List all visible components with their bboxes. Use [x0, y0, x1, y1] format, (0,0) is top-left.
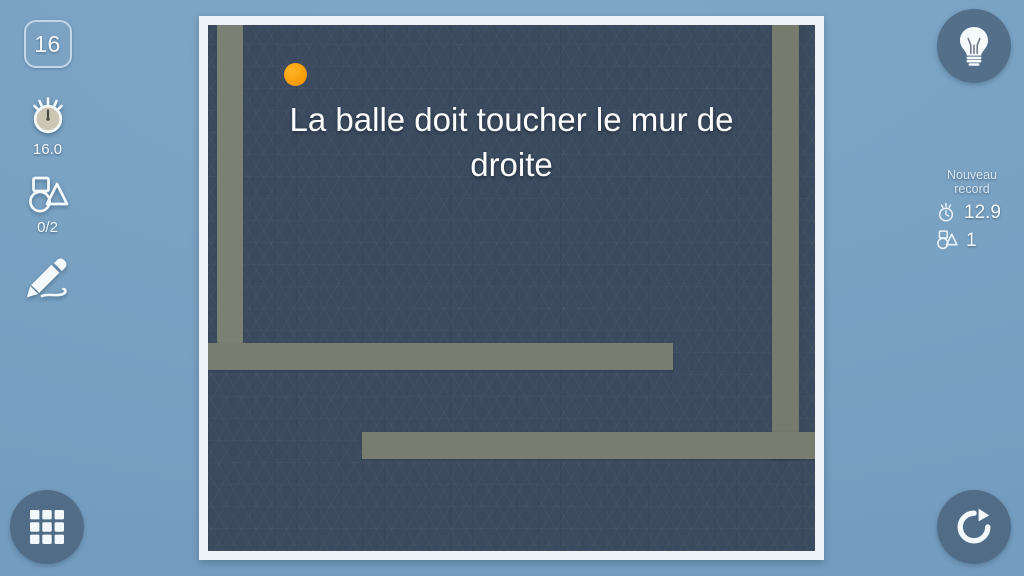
new-record-panel: Nouveau record 12.9 1	[932, 168, 1012, 251]
pencil-draw-icon	[22, 256, 74, 302]
draw-tool-button[interactable]	[22, 256, 74, 302]
restart-icon	[954, 507, 994, 547]
play-field[interactable]: La balle doit toucher le mur de droite	[208, 25, 815, 551]
objective-text: La balle doit toucher le mur de droite	[252, 97, 772, 187]
restart-button[interactable]	[937, 490, 1011, 564]
timer-value: 16.0	[33, 141, 62, 158]
record-shapes-value: 1	[966, 231, 977, 250]
wall-middle	[208, 343, 673, 370]
new-record-title: Nouveau record	[947, 168, 997, 196]
record-time-value: 12.9	[964, 203, 1001, 222]
timer-stat: 16.0	[26, 94, 70, 158]
stopwatch-icon	[26, 94, 70, 138]
shapes-stat: 0/2	[25, 174, 71, 236]
hint-button[interactable]	[937, 9, 1011, 83]
stopwatch-icon	[935, 201, 957, 224]
level-number-badge: 16	[24, 20, 72, 68]
ball	[284, 63, 307, 86]
lightbulb-icon	[954, 24, 994, 68]
wall-lower	[362, 432, 815, 459]
new-record-title-line1: Nouveau	[947, 168, 997, 182]
shapes-value: 0/2	[37, 219, 58, 236]
wall-right	[772, 25, 799, 459]
level-number-label: 16	[34, 31, 61, 58]
wall-left	[217, 25, 243, 343]
new-record-title-line2: record	[947, 182, 997, 196]
record-shapes-row: 1	[932, 229, 1012, 251]
record-time-row: 12.9	[932, 201, 1012, 224]
shapes-icon	[25, 174, 71, 216]
shapes-icon	[935, 229, 959, 251]
level-menu-button[interactable]	[10, 490, 84, 564]
game-frame: La balle doit toucher le mur de droite	[199, 16, 824, 560]
grid-menu-icon	[28, 508, 66, 546]
